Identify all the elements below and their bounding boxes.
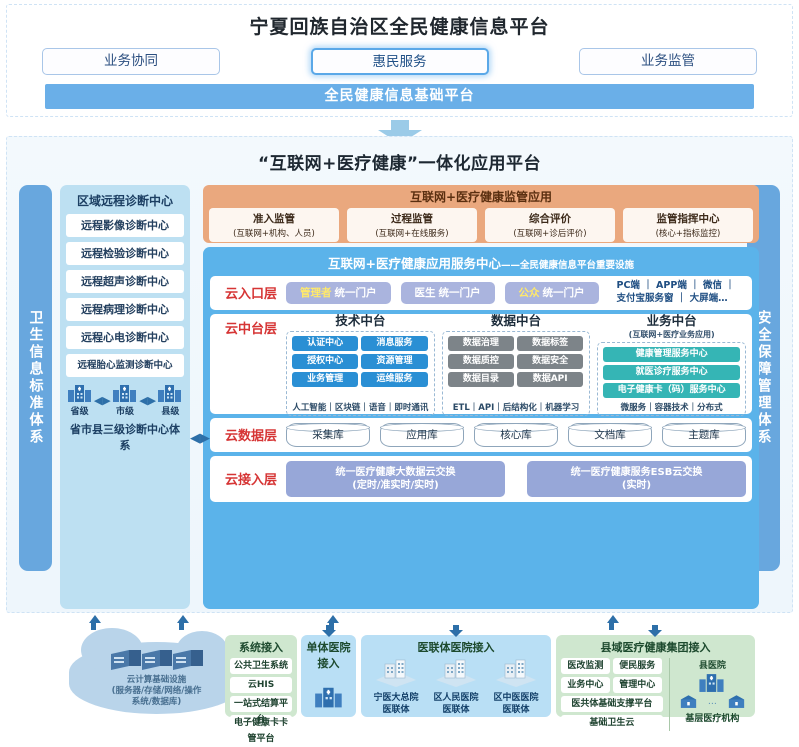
- remote-item-lab[interactable]: 远程检验诊断中心: [66, 242, 184, 265]
- medical-alliance-card: 医联体医院接入 宁医大总院 医联体: [361, 635, 551, 717]
- cloud-entry-layer: 云入口层 管理者统一门户 医生统一门户 公众统一门户 PC端 ｜ APP端 ｜ …: [210, 276, 752, 310]
- service-center-subtitle: ——全民健康信息平台重要设施: [501, 260, 634, 271]
- database-row: 采集库 应用库 核心库 文档库 主题库: [286, 423, 746, 447]
- supervision-card-command-center[interactable]: 监管指挥中心 (核心+指标监控): [623, 208, 753, 242]
- county-medical-group-card: 县域医疗健康集团接入 医改监测 便民服务 业务中心 管理中心 医共体基础支撑平台…: [556, 635, 755, 717]
- cloud-line-2: (服务器/存储/网络/操作: [69, 686, 244, 697]
- access-line-1: 统一医疗健康大数据云交换: [336, 466, 456, 479]
- remote-item-ecg[interactable]: 远程心电诊断中心: [66, 326, 184, 349]
- card-subtitle: (核心+指标监控): [656, 227, 721, 239]
- tier-county: 县级: [157, 383, 183, 417]
- supervision-application-block: 互联网+医疗健康监管应用 准入监管 (互联网+机构、人员) 过程监管 (互联网+…: [203, 185, 759, 243]
- card-subtitle: (互联网+在线服务): [375, 227, 448, 239]
- base-institution-icons: …: [675, 695, 750, 709]
- business-platform-title-text: 业务中台: [647, 313, 697, 328]
- entry-channels: PC端 ｜ APP端 ｜ 微信 ｜ 支付宝服务窗 ｜ 大屏端…: [617, 280, 735, 306]
- single-hospital-title-2: 接入: [306, 655, 351, 671]
- tier-city: 市级: [112, 383, 138, 417]
- access-row: 统一医疗健康大数据云交换 (定时/准实时/实时) 统一医疗健康服务ESB云交换 …: [286, 461, 746, 497]
- service-center-title: 互联网+医疗健康应用服务中心: [328, 256, 501, 271]
- cloud-middle-platform-layer: 云中台层 技术中台 认证中心 消息服务 授权中心 资源管理: [210, 314, 752, 414]
- access-layer-label: 云接入层: [216, 469, 286, 488]
- entry-layer-body: 管理者统一门户 医生统一门户 公众统一门户 PC端 ｜ APP端 ｜ 微信 ｜ …: [286, 280, 746, 306]
- data-platform-footer: ETL｜API｜后结构化｜机器学习: [448, 401, 585, 413]
- alliance-label-1: 区人民医院: [427, 693, 485, 704]
- card-title: 过程监管: [391, 211, 433, 226]
- chip-message-service[interactable]: 消息服务: [361, 336, 427, 351]
- top-button-public-service[interactable]: 惠民服务: [311, 48, 489, 75]
- db-label: 应用库: [406, 429, 438, 441]
- supervision-card-access[interactable]: 准入监管 (互联网+机构、人员): [209, 208, 339, 242]
- portal-text: 统一门户: [543, 287, 585, 299]
- cloud-line-3: 系统/数据库): [69, 697, 244, 708]
- channels-line-2: 支付宝服务窗 ｜ 大屏端…: [617, 293, 735, 306]
- chip-resource-management[interactable]: 资源管理: [361, 354, 427, 369]
- county-group-items: 医改监测 便民服务 业务中心 管理中心 医共体基础支撑平台 基础卫生云: [561, 658, 663, 731]
- base-platform-bar: 全民健康信息基础平台: [45, 84, 754, 109]
- county-item-business-center[interactable]: 业务中心: [561, 677, 610, 693]
- portal-doctor[interactable]: 医生统一门户: [401, 282, 495, 304]
- card-subtitle: (互联网+机构、人员): [233, 227, 315, 239]
- ellipsis: …: [708, 697, 717, 707]
- supervision-card-process[interactable]: 过程监管 (互联网+在线服务): [347, 208, 477, 242]
- portal-text: 统一门户: [439, 287, 481, 299]
- access-line-2: (实时): [622, 479, 651, 492]
- alliance-label-2: 医联体: [367, 705, 425, 716]
- remote-center-title: 区域远程诊断中心: [66, 192, 184, 209]
- alliance-ningyida[interactable]: 宁医大总院 医联体: [367, 658, 425, 717]
- down-arrow-icon: [449, 625, 463, 637]
- top-button-supervision[interactable]: 业务监管: [579, 48, 757, 75]
- access-esb-exchange[interactable]: 统一医疗健康服务ESB云交换 (实时): [527, 461, 746, 497]
- architecture-diagram: 宁夏回族自治区全民健康信息平台 业务协同 惠民服务 业务监管 全民健康信息基础平…: [0, 0, 799, 617]
- card-title: 监管指挥中心: [657, 211, 720, 226]
- data-layer-label: 云数据层: [216, 425, 286, 444]
- alliance-label-2: 医联体: [427, 705, 485, 716]
- data-platform-title: 数据中台: [442, 310, 591, 329]
- cloud-access-layer: 云接入层 统一医疗健康大数据云交换 (定时/准实时/实时) 统一医疗健康服务ES…: [210, 456, 752, 502]
- tier-province: 省级: [67, 383, 93, 417]
- remote-item-fetal-monitoring[interactable]: 远程胎心监测诊断中心: [66, 354, 184, 377]
- server-icons: [69, 648, 244, 678]
- tier-arrow-icon: ◀▶: [94, 394, 111, 407]
- cloud-line-1: 云计算基础设施: [69, 675, 244, 686]
- remote-item-imaging[interactable]: 远程影像诊断中心: [66, 214, 184, 237]
- top-button-collaboration[interactable]: 业务协同: [42, 48, 220, 75]
- medical-alliance-title: 医联体医院接入: [366, 639, 546, 655]
- page-title: 宁夏回族自治区全民健康信息平台: [7, 12, 792, 39]
- business-platform-footer: 微服务｜容器技术｜分布式: [603, 401, 740, 413]
- card-title: 综合评价: [529, 211, 571, 226]
- db-label: 采集库: [312, 429, 344, 441]
- mid-platform-columns: 技术中台 认证中心 消息服务 授权中心 资源管理 业务管理 运维服务: [286, 310, 746, 416]
- regional-remote-diagnosis-center: 区域远程诊断中心 远程影像诊断中心 远程检验诊断中心 远程超声诊断中心 远程病理…: [60, 185, 190, 609]
- chip-business-management[interactable]: 业务管理: [292, 372, 358, 387]
- tech-chip-grid: 认证中心 消息服务 授权中心 资源管理 业务管理 运维服务: [292, 336, 429, 387]
- upward-arrow-group: [7, 615, 794, 629]
- tech-platform-title: 技术中台: [286, 310, 435, 329]
- main-application-panel: “互联网+医疗健康”一体化应用平台 卫生信息标准体系 安全保障管理体系 区域远程…: [6, 136, 793, 613]
- single-hospital-title-1: 单体医院: [306, 639, 351, 655]
- base-institution-label: 基层医疗机构: [675, 711, 750, 724]
- data-chip-grid: 数据治理 数据标签 数据质控 数据安全 数据目录 数据API: [448, 336, 585, 387]
- application-service-center: 互联网+医疗健康应用服务中心——全民健康信息平台重要设施 云入口层 管理者统一门…: [203, 247, 759, 609]
- cloud-infrastructure: 云计算基础设施 (服务器/存储/网络/操作 系统/数据库): [69, 642, 244, 714]
- down-arrow-icon: [648, 625, 662, 637]
- chip-data-catalog[interactable]: 数据目录: [448, 372, 514, 387]
- tier-label-province: 省级: [67, 404, 93, 417]
- database-core[interactable]: 核心库: [474, 423, 558, 447]
- tech-platform-footer: 人工智能｜区块链｜语音｜即时通讯: [292, 401, 429, 413]
- card-subtitle: (互联网+诊后评价): [513, 227, 586, 239]
- hospital-campus-icon: [493, 658, 539, 688]
- hospital-campus-icon: [373, 658, 419, 688]
- top-platform-panel: 宁夏回族自治区全民健康信息平台 业务协同 惠民服务 业务监管 全民健康信息基础平…: [6, 4, 793, 117]
- access-bigdata-exchange[interactable]: 统一医疗健康大数据云交换 (定时/准实时/实时): [286, 461, 505, 497]
- bidirectional-arrow-icon: ◀▶: [190, 431, 210, 446]
- chip-health-management-center[interactable]: 健康管理服务中心: [603, 347, 740, 362]
- db-label: 主题库: [688, 429, 720, 441]
- county-item-reform-monitoring[interactable]: 医改监测: [561, 658, 610, 674]
- service-center-header: 互联网+医疗健康应用服务中心——全民健康信息平台重要设施: [206, 250, 756, 276]
- main-title: “互联网+医疗健康”一体化应用平台: [7, 149, 792, 174]
- tier-arrow-icon: ◀▶: [139, 394, 156, 407]
- chip-data-governance[interactable]: 数据治理: [448, 336, 514, 351]
- portal-tag: 管理者: [300, 287, 332, 299]
- medical-alliance-row: 宁医大总院 医联体 区人民医院 医联体: [366, 658, 546, 717]
- chip-data-quality[interactable]: 数据质控: [448, 354, 514, 369]
- chip-data-security[interactable]: 数据安全: [517, 354, 583, 369]
- tier-row: 省级 ◀▶ 市级: [66, 383, 184, 417]
- database-application[interactable]: 应用库: [380, 423, 464, 447]
- left-rail-standards-system: 卫生信息标准体系: [19, 185, 52, 571]
- county-item-support-platform[interactable]: 医共体基础支撑平台: [561, 696, 663, 712]
- business-chip-grid: 健康管理服务中心 就医诊疗服务中心 电子健康卡（码）服务中心: [603, 347, 740, 398]
- database-subject[interactable]: 主题库: [662, 423, 746, 447]
- chip-ehealth-card-center[interactable]: 电子健康卡（码）服务中心: [603, 383, 740, 398]
- chip-ops-service[interactable]: 运维服务: [361, 372, 427, 387]
- chip-authorization-center[interactable]: 授权中心: [292, 354, 358, 369]
- entry-layer-label: 云入口层: [216, 283, 286, 302]
- supervision-title: 互联网+医疗健康监管应用: [209, 188, 753, 205]
- county-item-convenience-service[interactable]: 便民服务: [613, 658, 662, 674]
- server-icon: [109, 648, 205, 674]
- mid-layer-label: 云中台层: [216, 318, 286, 409]
- hospital-icon: [314, 685, 344, 709]
- db-label: 核心库: [500, 429, 532, 441]
- channels-line-1: PC端 ｜ APP端 ｜ 微信 ｜: [617, 280, 735, 293]
- alliance-label-1: 宁医大总院: [367, 693, 425, 704]
- portal-tag: 公众: [519, 287, 540, 299]
- supervision-card-row: 准入监管 (互联网+机构、人员) 过程监管 (互联网+在线服务) 综合评价 (互…: [209, 208, 753, 242]
- access-line-1: 统一医疗健康服务ESB云交换: [571, 466, 703, 479]
- business-platform-subtitle: (互联网+医疗业务应用): [597, 329, 746, 340]
- portal-text: 统一门户: [335, 287, 377, 299]
- cloud-infrastructure-label: 云计算基础设施 (服务器/存储/网络/操作 系统/数据库): [69, 675, 244, 708]
- hospital-icon: [698, 672, 726, 693]
- alliance-label-1: 区中医医院: [487, 693, 545, 704]
- county-hospital-structure: 县医院: [669, 658, 750, 731]
- county-hospital-label: 县医院: [675, 658, 750, 671]
- top-button-row: 业务协同 惠民服务 业务监管: [7, 48, 792, 75]
- tier-label-county: 县级: [157, 404, 183, 417]
- tech-middle-platform: 技术中台 认证中心 消息服务 授权中心 资源管理 业务管理 运维服务: [286, 310, 435, 416]
- tier-label-city: 市级: [112, 404, 138, 417]
- hospital-campus-icon: [433, 658, 479, 688]
- three-tier-footer: 省市县三级诊断中心体系: [66, 421, 184, 453]
- cloud-data-layer: 云数据层 采集库 应用库 核心库 文档库 主题库: [210, 418, 752, 452]
- county-item-basic-health-cloud[interactable]: 基础卫生云: [561, 715, 663, 731]
- hospital-icon: [112, 383, 138, 403]
- chip-medical-treatment-center[interactable]: 就医诊疗服务中心: [603, 365, 740, 380]
- county-group-title: 县域医疗健康集团接入: [561, 639, 750, 655]
- alliance-tcm-hospital[interactable]: 区中医医院 医联体: [487, 658, 545, 717]
- business-middle-platform: 业务中台 (互联网+医疗业务应用) 健康管理服务中心 就医诊疗服务中心 电子健康…: [597, 310, 746, 416]
- remote-item-pathology[interactable]: 远程病理诊断中心: [66, 298, 184, 321]
- chip-data-api[interactable]: 数据API: [517, 372, 583, 387]
- portal-administrator[interactable]: 管理者统一门户: [286, 282, 391, 304]
- database-collection[interactable]: 采集库: [286, 423, 370, 447]
- portal-tag: 医生: [415, 287, 436, 299]
- db-label: 文档库: [594, 429, 626, 441]
- portal-public[interactable]: 公众统一门户: [505, 282, 599, 304]
- supervision-card-evaluation[interactable]: 综合评价 (互联网+诊后评价): [485, 208, 615, 242]
- county-item-management-center[interactable]: 管理中心: [613, 677, 662, 693]
- clinic-icon: [680, 695, 697, 709]
- database-document[interactable]: 文档库: [568, 423, 652, 447]
- access-line-2: (定时/准实时/实时): [352, 479, 438, 492]
- chip-data-labels[interactable]: 数据标签: [517, 336, 583, 351]
- system-item-ehealth-card-platform[interactable]: 电子健康卡卡管平台: [230, 715, 292, 731]
- card-title: 准入监管: [253, 211, 295, 226]
- down-arrow-icon: [322, 625, 336, 637]
- chip-auth-center[interactable]: 认证中心: [292, 336, 358, 351]
- single-hospital-access-card: 单体医院 接入: [301, 635, 356, 717]
- data-middle-platform: 数据中台 数据治理 数据标签 数据质控 数据安全 数据目录 数据API: [442, 310, 591, 416]
- hospital-icon: [157, 383, 183, 403]
- alliance-peoples-hospital[interactable]: 区人民医院 医联体: [427, 658, 485, 717]
- remote-item-ultrasound[interactable]: 远程超声诊断中心: [66, 270, 184, 293]
- alliance-label-2: 医联体: [487, 705, 545, 716]
- clinic-icon: [728, 695, 745, 709]
- business-platform-title: 业务中台 (互联网+医疗业务应用): [597, 310, 746, 340]
- hospital-icon: [67, 383, 93, 403]
